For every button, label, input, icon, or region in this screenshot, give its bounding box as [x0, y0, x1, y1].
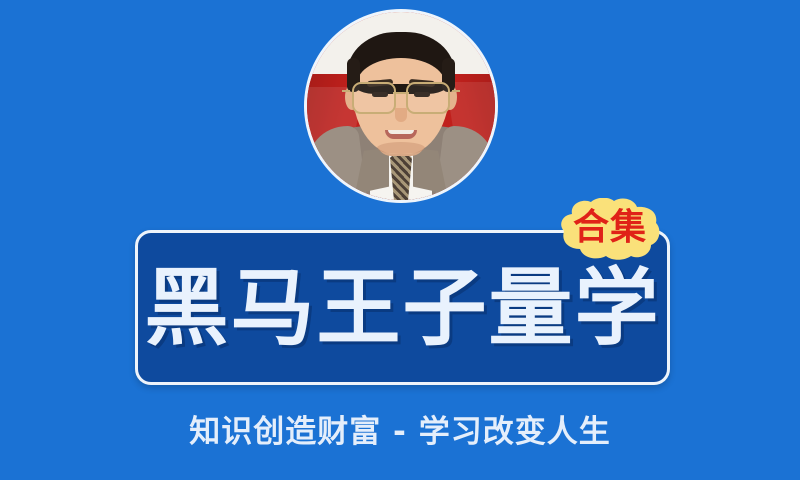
lens-right	[406, 82, 450, 114]
nose	[395, 108, 407, 122]
avatar[interactable]	[307, 12, 495, 200]
glasses-temple-right	[452, 90, 460, 92]
glasses-bridge	[393, 92, 409, 94]
lens-left	[352, 82, 396, 114]
chin-shadow	[377, 142, 425, 154]
status-badge[interactable]: 合集	[558, 198, 662, 260]
glasses-temple-left	[342, 90, 350, 92]
mouth	[385, 130, 417, 139]
page-title: 黑马王子量学	[144, 266, 660, 350]
badge-label: 合集	[558, 198, 662, 260]
poster-canvas: 黑马王子量学 合集 知识创造财富 - 学习改变人生	[0, 0, 800, 480]
subtitle-tagline: 知识创造财富 - 学习改变人生	[0, 406, 800, 451]
